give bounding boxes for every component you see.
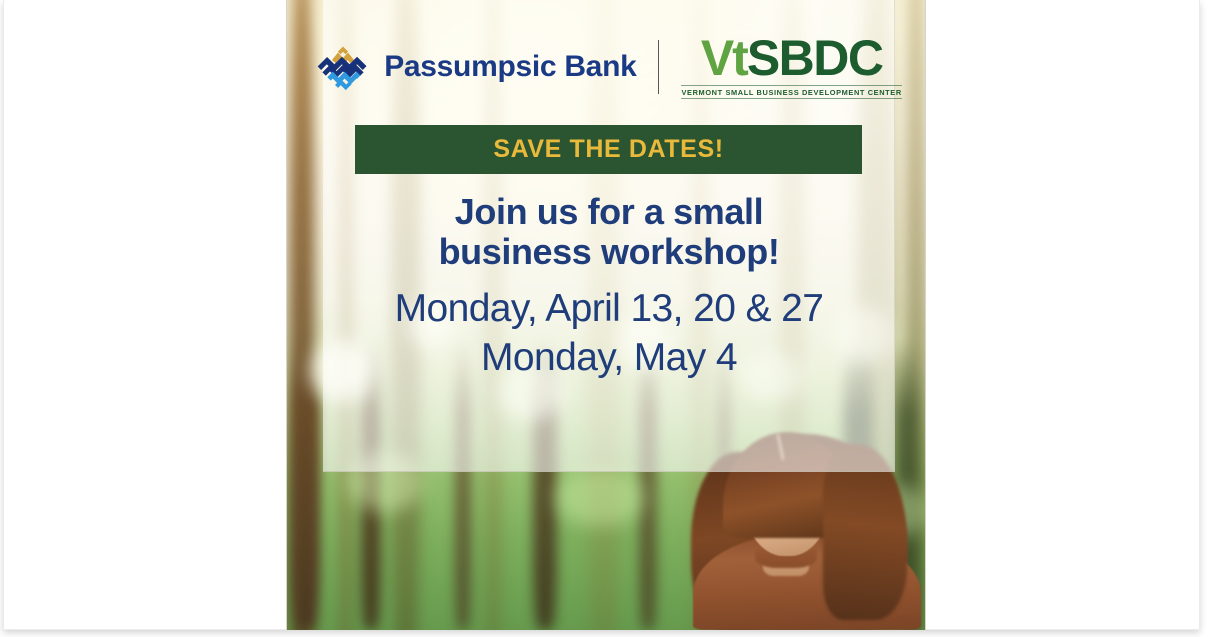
vtsbdc-tagline: VERMONT SMALL BUSINESS DEVELOPMENT CENTE…: [681, 85, 901, 99]
vtsbdc-vt-text: Vt: [701, 35, 747, 81]
save-the-dates-text: SAVE THE DATES!: [493, 135, 723, 164]
date-line-1: Monday, April 13, 20 & 27: [323, 285, 895, 334]
document-page: Passumpsic Bank Vt SBDC VERMONT SMALL BU…: [3, 0, 1200, 630]
logo-divider: [658, 40, 659, 94]
save-the-dates-banner: SAVE THE DATES!: [355, 125, 862, 174]
vtsbdc-logo: Vt SBDC VERMONT SMALL BUSINESS DEVELOPME…: [681, 35, 901, 99]
passumpsic-bank-wordmark: Passumpsic Bank: [384, 50, 636, 84]
passumpsic-diamond-waves-icon: [316, 40, 370, 94]
vtsbdc-sbdc-text: SBDC: [747, 35, 883, 81]
passumpsic-bank-logo: Passumpsic Bank: [316, 40, 636, 94]
vtsbdc-wordmark: Vt SBDC: [701, 35, 883, 81]
logo-row: Passumpsic Bank Vt SBDC VERMONT SMALL BU…: [323, 28, 895, 106]
bokeh-highlight: [555, 470, 645, 526]
page-title: Join us for a small business workshop!: [323, 192, 895, 271]
headline-line-2: business workshop!: [439, 231, 780, 272]
headline-line-1: Join us for a small: [455, 191, 764, 232]
workshop-dates: Monday, April 13, 20 & 27 Monday, May 4: [323, 285, 895, 383]
workshop-flyer-image: Passumpsic Bank Vt SBDC VERMONT SMALL BU…: [286, 0, 926, 630]
date-line-2: Monday, May 4: [323, 334, 895, 383]
